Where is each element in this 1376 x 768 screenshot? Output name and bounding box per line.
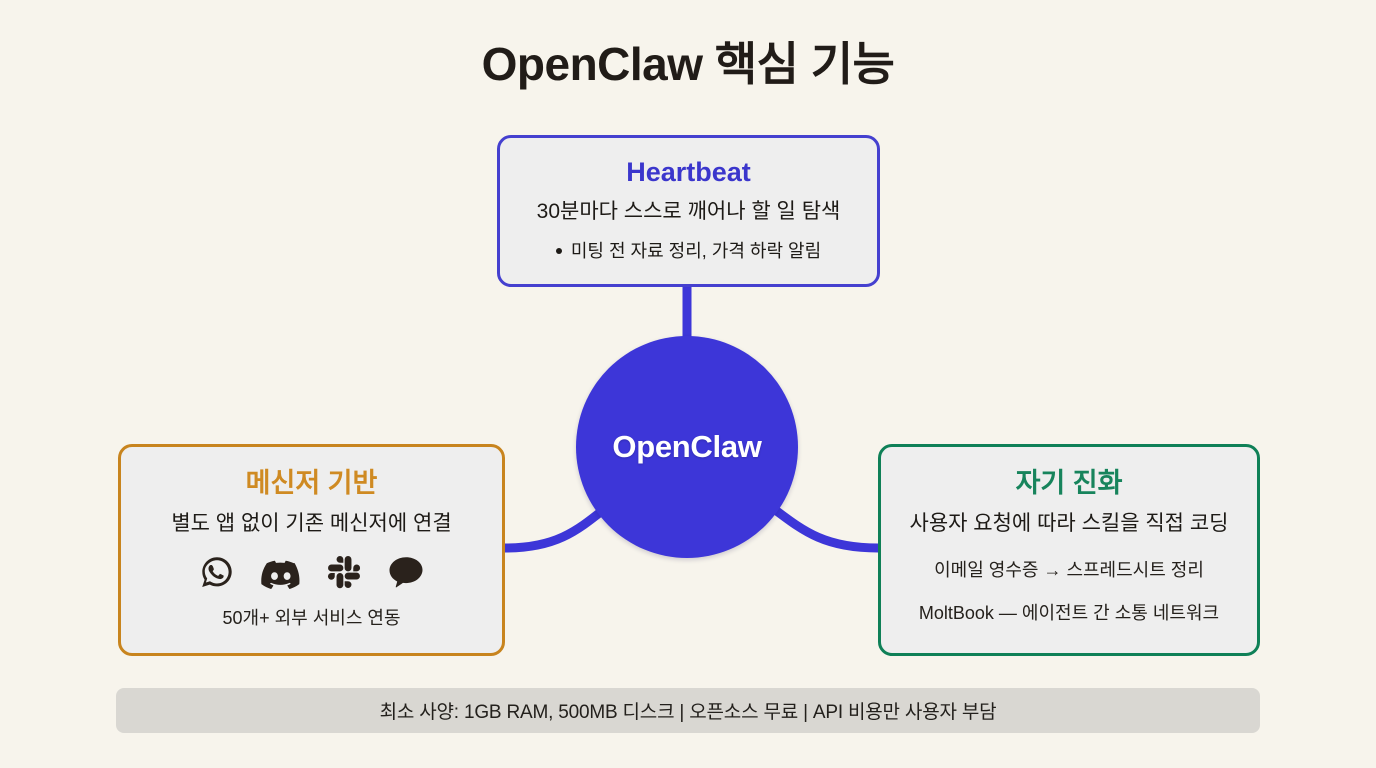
- bullet-dot-icon: [556, 248, 562, 254]
- connector-hub-to-evolution: [766, 503, 878, 548]
- messenger-icon-row: [199, 554, 425, 590]
- diagram-canvas: OpenClaw 핵심 기능 OpenClaw Heartbeat 30분마다 …: [0, 0, 1376, 768]
- card-evolution[interactable]: 자기 진화 사용자 요청에 따라 스킬을 직접 코딩 이메일 영수증 → 스프레…: [878, 444, 1260, 656]
- card-messenger-subtitle: 별도 앱 없이 기존 메신저에 연결: [171, 510, 451, 537]
- card-evolution-subtitle: 사용자 요청에 따라 스킬을 직접 코딩: [910, 510, 1229, 537]
- card-heartbeat-title: Heartbeat: [626, 156, 751, 188]
- card-heartbeat-bullet-item: 미팅 전 자료 정리, 가격 하락 알림: [556, 240, 821, 263]
- page-title: OpenClaw 핵심 기능: [0, 38, 1376, 91]
- card-evolution-line-2: MoltBook — 에이전트 간 소통 네트워크: [919, 602, 1219, 625]
- whatsapp-icon[interactable]: [199, 554, 235, 590]
- card-messenger[interactable]: 메신저 기반 별도 앱 없이 기존 메신저에 연결: [118, 444, 505, 656]
- discord-icon[interactable]: [261, 554, 301, 590]
- card-heartbeat[interactable]: Heartbeat 30분마다 스스로 깨어나 할 일 탐색 미팅 전 자료 정…: [497, 135, 880, 287]
- slack-icon[interactable]: [327, 555, 361, 589]
- hub-label: OpenClaw: [612, 429, 761, 465]
- card-messenger-title: 메신저 기반: [246, 467, 378, 499]
- card-heartbeat-subtitle: 30분마다 스스로 깨어나 할 일 탐색: [537, 198, 841, 225]
- hub-node-openclaw[interactable]: OpenClaw: [576, 336, 798, 558]
- footer-bar: 최소 사양: 1GB RAM, 500MB 디스크 | 오픈소스 무료 | AP…: [116, 688, 1260, 733]
- kakaotalk-icon[interactable]: [387, 555, 425, 589]
- footer-text: 최소 사양: 1GB RAM, 500MB 디스크 | 오픈소스 무료 | AP…: [380, 697, 997, 724]
- card-evolution-title: 자기 진화: [1016, 467, 1123, 499]
- card-messenger-footnote: 50개+ 외부 서비스 연동: [222, 607, 400, 630]
- card-evolution-line-1: 이메일 영수증 → 스프레드시트 정리: [934, 559, 1204, 582]
- card-heartbeat-bullet-text: 미팅 전 자료 정리, 가격 하락 알림: [571, 240, 821, 263]
